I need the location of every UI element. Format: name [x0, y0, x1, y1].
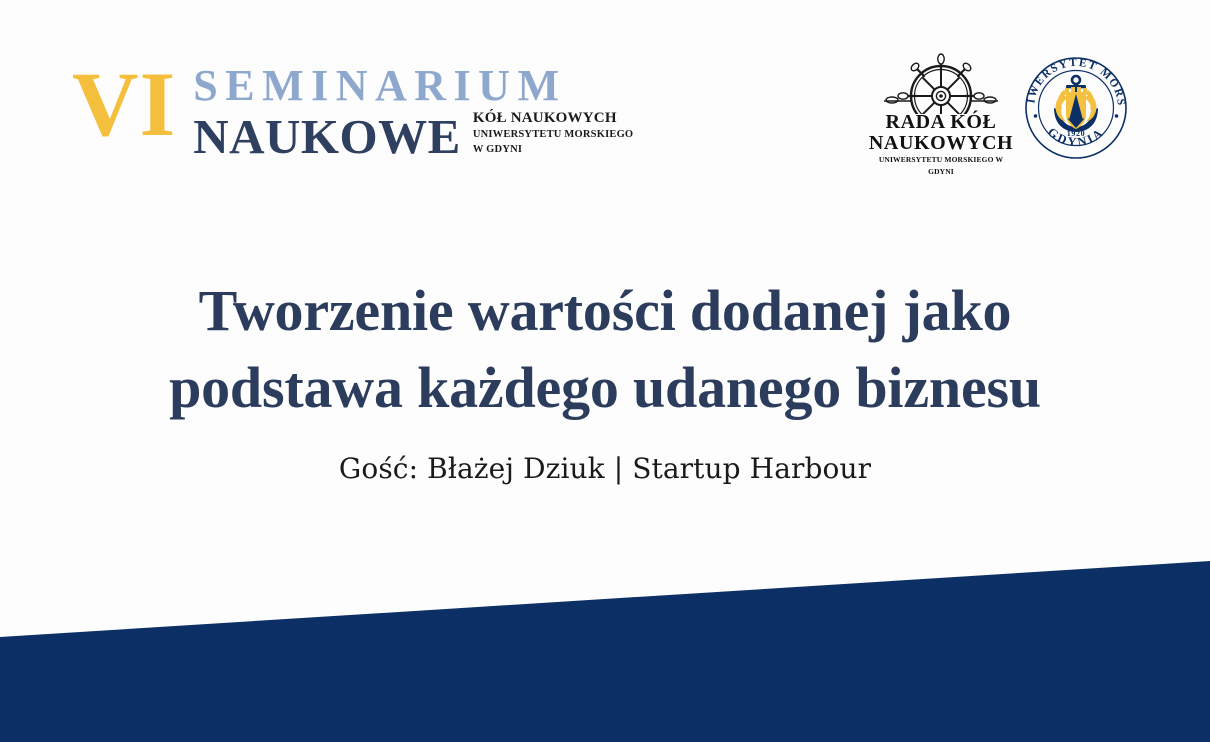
seal-year: 1920 [1067, 129, 1085, 138]
seminar-logo-bottom-row: NAUKOWE KÓŁ NAUKOWYCH UNIWERSYTETU MORSK… [193, 110, 633, 161]
seminar-word-seminarium: SEMINARIUM [193, 64, 633, 108]
rada-kol-naukowych-logo: RADA KÓŁ NAUKOWYCH UNIWERSYTETU MORSKIEG… [876, 52, 1006, 178]
slide-header: VI SEMINARIUM NAUKOWE KÓŁ NAUKOWYCH UNIW… [0, 0, 1210, 195]
seminar-word-naukowe: NAUKOWE [193, 112, 461, 161]
partner-logos: RADA KÓŁ NAUKOWYCH UNIWERSYTETU MORSKIEG… [876, 52, 1132, 178]
seminar-subtitle-line-3: W GDYNI [473, 142, 633, 157]
title-line-1: Tworzenie wartości dodanej jako [0, 272, 1210, 349]
university-seal-icon: UNIWERSYTET MORSKI GDYNIA [1020, 52, 1132, 164]
rada-logo-line-1: RADA KÓŁ [869, 112, 1013, 133]
roman-numeral-six: VI [72, 62, 176, 147]
seminar-logo-words: SEMINARIUM NAUKOWE KÓŁ NAUKOWYCH UNIWERS… [193, 58, 633, 161]
slide-subtitle: Gość: Błażej Dziuk | Startup Harbour [0, 452, 1210, 486]
rada-logo-line-3: UNIWERSYTETU MORSKIEGO W GDYNI [869, 154, 1013, 178]
rada-logo-text: RADA KÓŁ NAUKOWYCH UNIWERSYTETU MORSKIEG… [869, 112, 1013, 178]
seminar-subtitle-line-2: UNIWERSYTETU MORSKIEGO [473, 127, 633, 142]
seminar-subtitle-line-1: KÓŁ NAUKOWYCH [473, 110, 633, 127]
seminar-logo-lockup: VI SEMINARIUM NAUKOWE KÓŁ NAUKOWYCH UNIW… [72, 58, 633, 161]
ships-wheel-icon [880, 52, 1002, 114]
slide-title: Tworzenie wartości dodanej jako podstawa… [0, 272, 1210, 426]
title-line-2: podstawa każdego udanego biznesu [0, 349, 1210, 426]
seminar-logo-subtitle-block: KÓŁ NAUKOWYCH UNIWERSYTETU MORSKIEGO W G… [473, 110, 633, 161]
presentation-slide: VI SEMINARIUM NAUKOWE KÓŁ NAUKOWYCH UNIW… [0, 0, 1210, 742]
rada-logo-line-2: NAUKOWYCH [869, 133, 1013, 154]
